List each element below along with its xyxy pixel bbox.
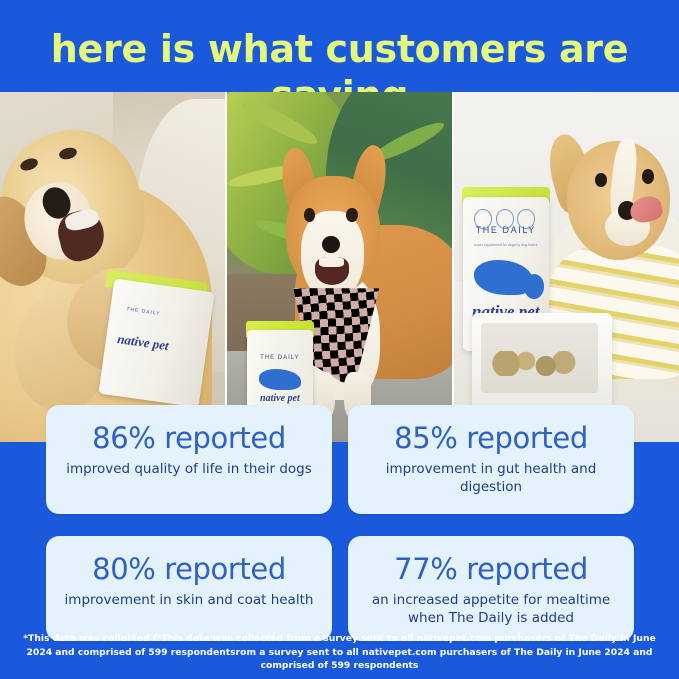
corgi-nose — [322, 236, 340, 254]
seal-badge-icon — [524, 274, 544, 299]
photo-chihuahua: THE DAILY super supplement for dogs by d… — [454, 92, 679, 442]
stat-description: an increased appetite for mealtime when … — [362, 591, 620, 627]
stat-value: 85% reported — [362, 421, 620, 455]
chihuahua-eye-right — [642, 169, 654, 184]
stat-value: 80% reported — [60, 552, 318, 586]
promo-graphic: here is what customers are saying THE DA… — [0, 0, 679, 679]
stat-value: 86% reported — [60, 421, 318, 455]
corgi-teeth — [319, 257, 344, 268]
corgi-eye-left — [304, 208, 315, 222]
photo-golden-retriever: THE DAILY native pet — [0, 92, 225, 442]
footnote-disclaimer: *This data was collected f*This data was… — [22, 632, 657, 673]
stat-description: improvement in skin and coat health — [60, 591, 318, 609]
stat-card-appetite: 77% reported an increased appetite for m… — [348, 536, 634, 641]
photo-strip: THE DAILY native pet — [0, 92, 679, 442]
product-line-label: THE DAILY — [252, 355, 308, 361]
stat-description: improved quality of life in their dogs — [60, 460, 318, 478]
stat-card-grid: 86% reported improved quality of life in… — [46, 405, 634, 641]
product-brand-label: native pet — [250, 393, 311, 404]
photo-corgi: THE DAILY native pet — [227, 92, 452, 442]
stat-description: improvement in gut health and digestion — [362, 460, 620, 496]
product-tagline: super supplement for dogs by dog lovers — [470, 243, 542, 247]
corgi-eye-right — [346, 208, 357, 222]
product-line-label: THE DAILY — [468, 225, 545, 235]
stat-card-gut-health: 85% reported improvement in gut health a… — [348, 405, 634, 514]
stat-card-skin-and-coat: 80% reported improvement in skin and coa… — [46, 536, 332, 641]
stat-card-quality-of-life: 86% reported improved quality of life in… — [46, 405, 332, 514]
stat-value: 77% reported — [362, 552, 620, 586]
chihuahua-eye-left — [595, 173, 607, 188]
kibble-food — [490, 351, 580, 376]
